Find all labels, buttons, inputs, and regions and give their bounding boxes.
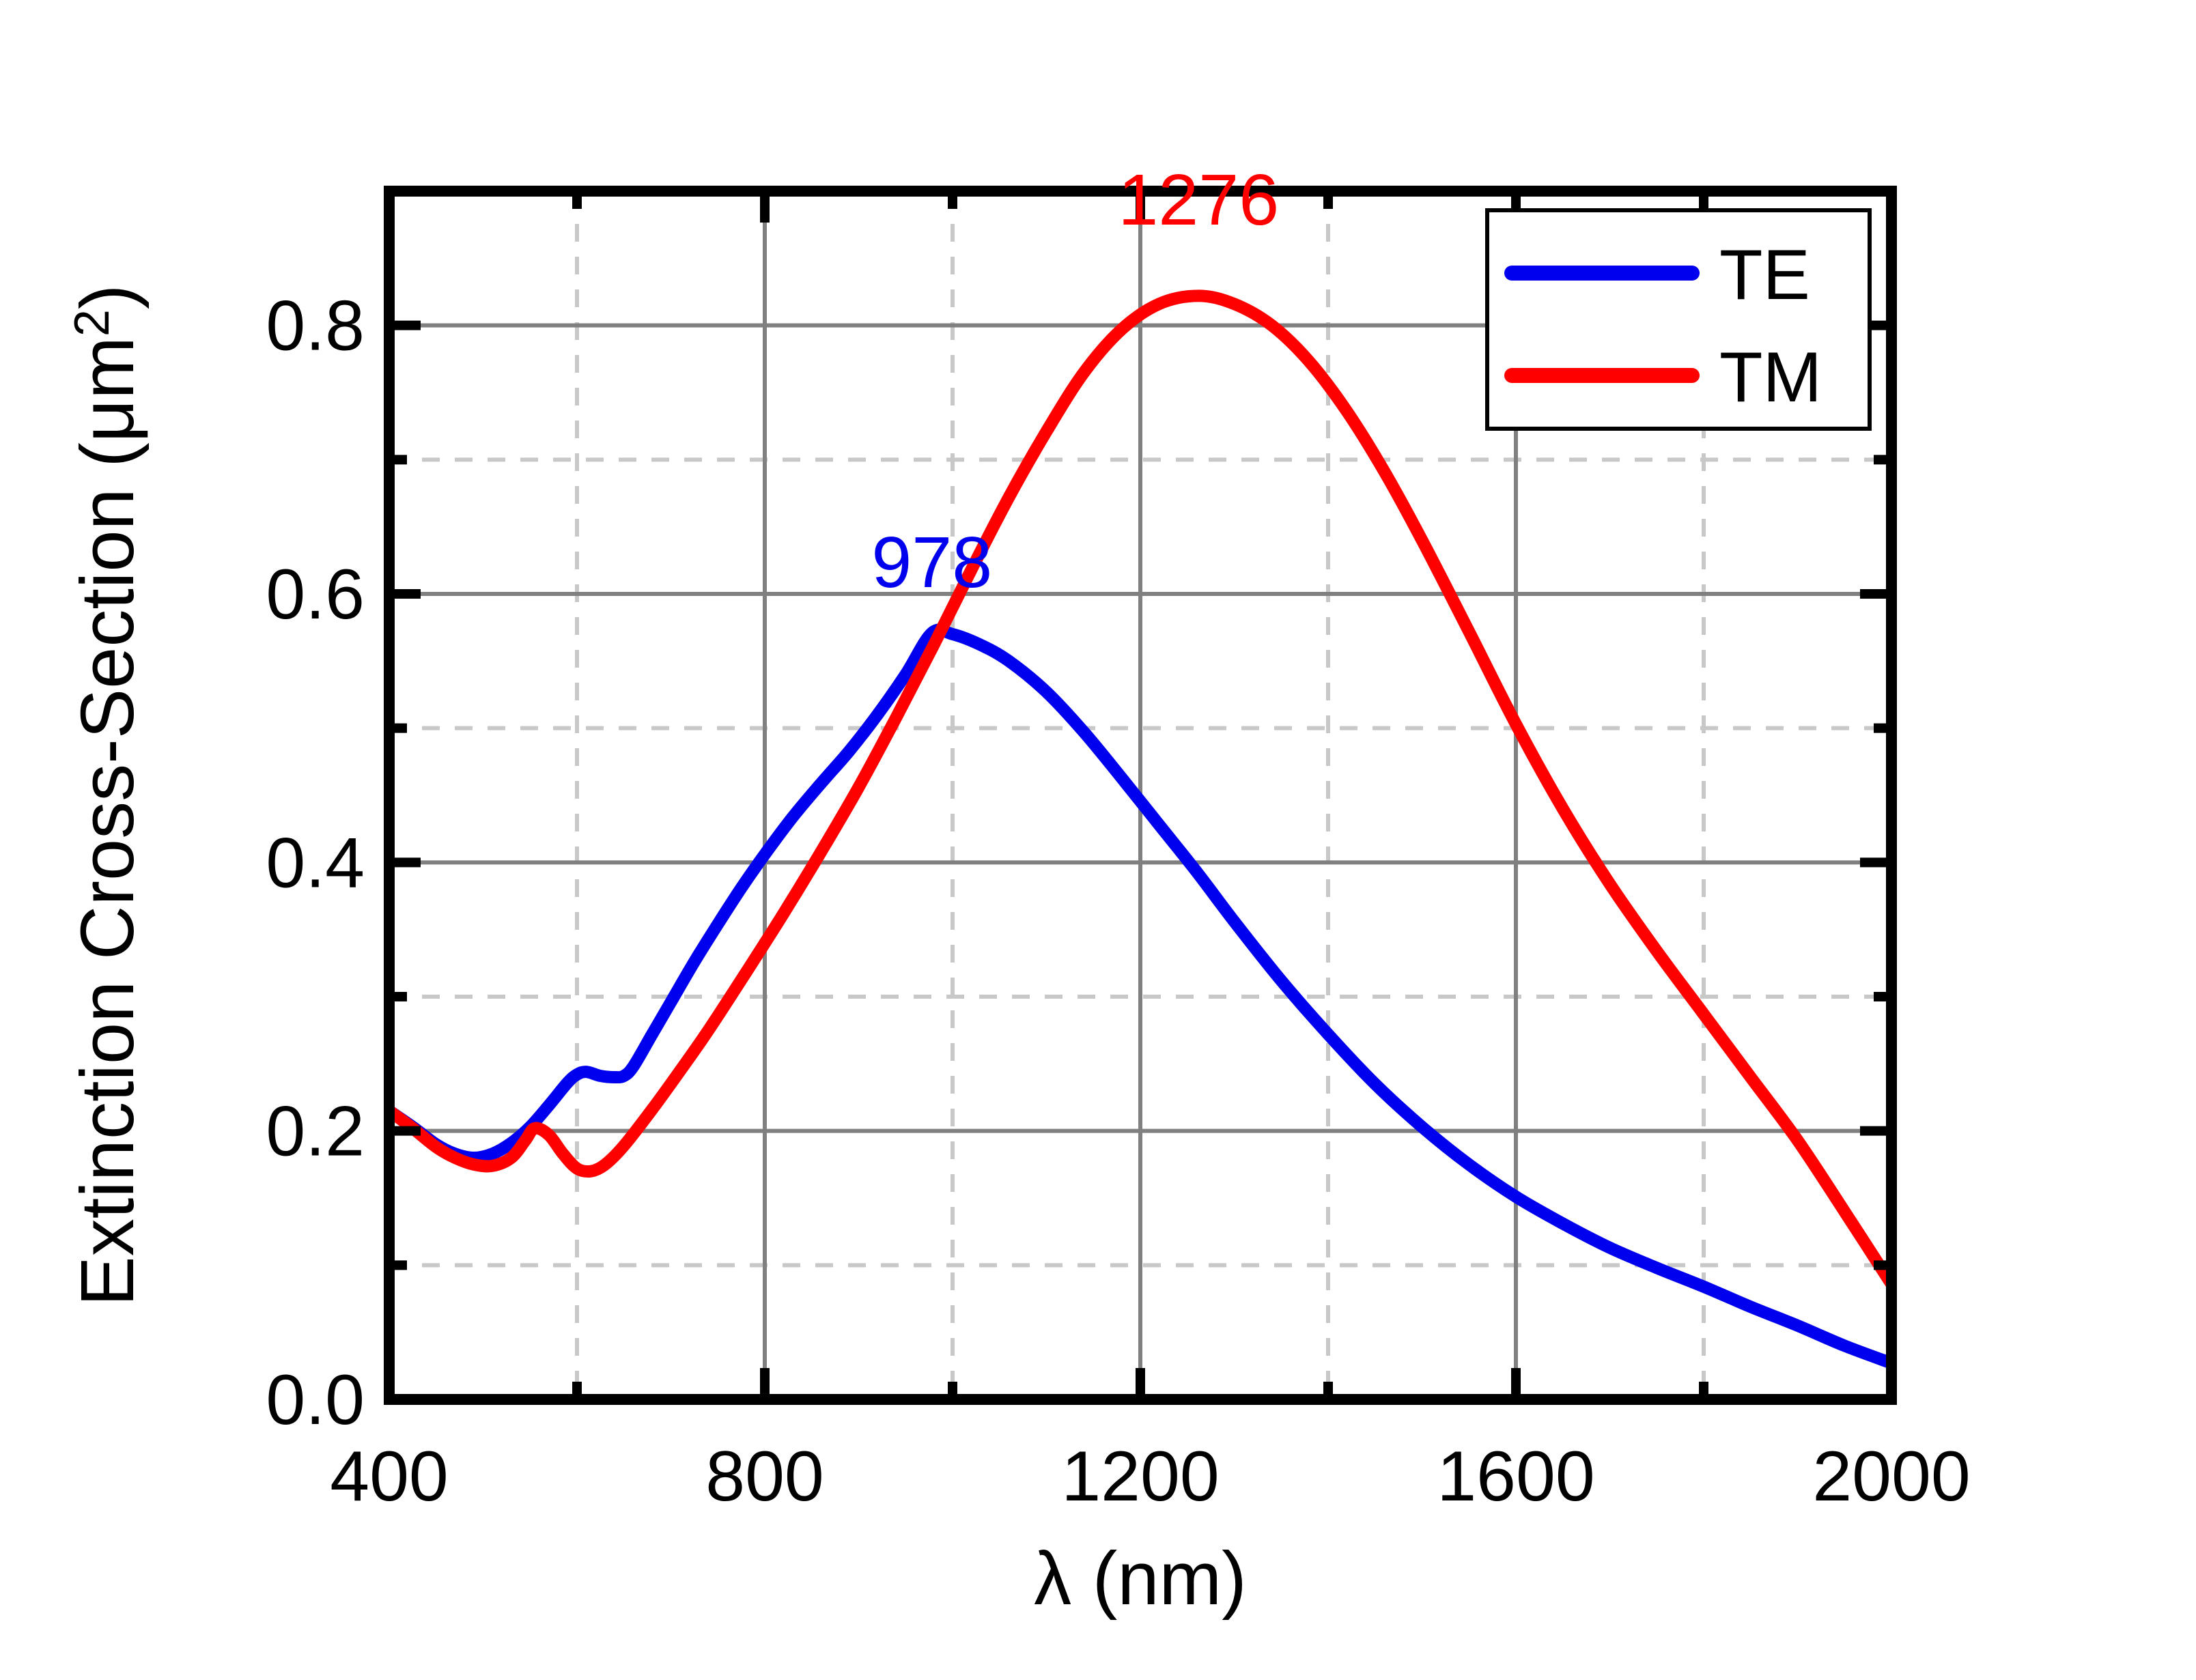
x-tick-label: 400 <box>330 1437 449 1516</box>
y-tick-label: 0.8 <box>266 287 365 366</box>
peak-annotation-label: 978 <box>871 522 992 603</box>
figure-root: 400800120016002000 0.00.20.40.60.8 λ (nm… <box>0 0 2196 1680</box>
legend[interactable]: TETM <box>1487 210 1870 429</box>
legend-label-te[interactable]: TE <box>1719 236 1810 315</box>
x-axis-title: λ (nm) <box>1034 1537 1247 1621</box>
y-axis-title-main: Extinction Cross-Section (μm <box>66 337 150 1306</box>
y-axis-title-superscript: 2 <box>65 309 119 337</box>
peak-annotation-label: 1276 <box>1118 160 1279 240</box>
y-tick-label: 0.0 <box>266 1361 365 1440</box>
y-axis-title: Extinction Cross-Section (μm2) <box>65 284 150 1306</box>
x-tick-label: 1200 <box>1061 1437 1219 1516</box>
x-tick-label: 800 <box>705 1437 824 1516</box>
x-tick-label: 2000 <box>1812 1437 1970 1516</box>
extinction-cross-section-chart: 400800120016002000 0.00.20.40.60.8 λ (nm… <box>0 0 2196 1680</box>
y-tick-label: 0.6 <box>266 555 365 634</box>
svg-text:Extinction Cross-Section (μm2): Extinction Cross-Section (μm2) <box>65 284 150 1306</box>
y-tick-label: 0.2 <box>266 1092 365 1171</box>
legend-label-tm[interactable]: TM <box>1719 338 1822 417</box>
y-axis-title-close: ) <box>66 284 150 309</box>
y-tick-label: 0.4 <box>266 823 365 902</box>
x-tick-label: 1600 <box>1437 1437 1594 1516</box>
